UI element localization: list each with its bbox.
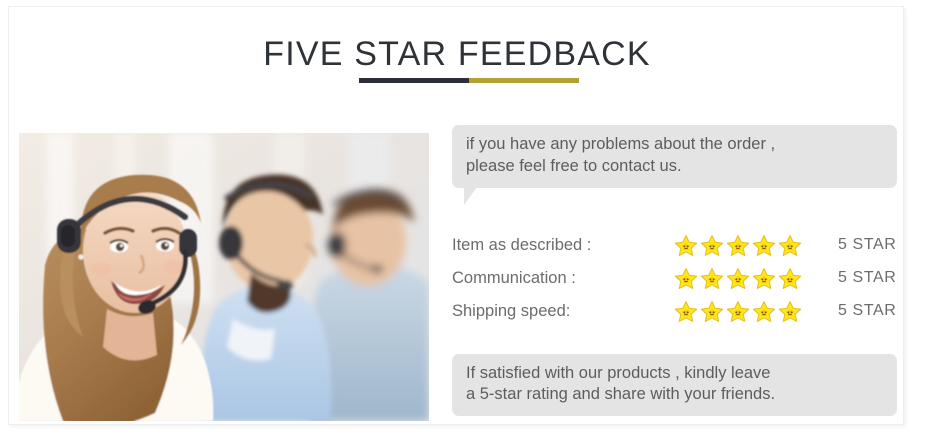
rating-value: 5 STAR: [838, 269, 896, 287]
speech-bubble-tail: [464, 187, 477, 205]
star-icon: [726, 300, 750, 323]
star-icon: [700, 267, 724, 290]
star-icon: [726, 234, 750, 257]
rating-row: Communication : 5 STAR: [452, 262, 897, 295]
page-title: FIVE STAR FEEDBACK: [9, 35, 905, 74]
rating-value: 5 STAR: [838, 236, 896, 254]
divider-gold-segment: [469, 78, 579, 83]
rating-label: Item as described :: [452, 236, 674, 255]
content-panel: FIVE STAR FEEDBACK: [8, 6, 904, 425]
star-icon: [700, 234, 724, 257]
contact-message-bubble: if you have any problems about the order…: [452, 125, 897, 188]
star-icon: [700, 300, 724, 323]
star-icon: [778, 234, 802, 257]
feedback-banner: FIVE STAR FEEDBACK: [0, 0, 930, 442]
star-icon: [726, 267, 750, 290]
rating-label: Communication :: [452, 269, 674, 288]
rating-row: Item as described : 5 STAR: [452, 229, 897, 262]
satisfaction-message-bubble: If satisfied with our products , kindly …: [452, 354, 897, 417]
star-rating: [674, 300, 814, 323]
divider-dark-segment: [359, 78, 469, 83]
star-rating: [674, 267, 814, 290]
star-icon: [752, 300, 776, 323]
contact-message-line-2: please feel free to contact us.: [466, 156, 883, 178]
title-divider: [359, 78, 579, 83]
satisfaction-message-line-1: If satisfied with our products , kindly …: [466, 363, 883, 385]
star-icon: [752, 234, 776, 257]
rating-label: Shipping speed:: [452, 302, 674, 321]
satisfaction-message-line-2: a 5-star rating and share with your frie…: [466, 384, 883, 406]
feedback-details: if you have any problems about the order…: [452, 125, 897, 416]
rating-row: Shipping speed: 5 STAR: [452, 295, 897, 328]
star-icon: [778, 300, 802, 323]
contact-message-line-1: if you have any problems about the order…: [466, 134, 883, 156]
star-icon: [674, 267, 698, 290]
star-rating: [674, 234, 814, 257]
call-center-photo: [19, 133, 429, 421]
star-icon: [752, 267, 776, 290]
star-icon: [674, 234, 698, 257]
ratings-list: Item as described : 5 STAR Communication…: [452, 229, 897, 328]
star-icon: [778, 267, 802, 290]
star-icon: [674, 300, 698, 323]
rating-value: 5 STAR: [838, 302, 896, 320]
